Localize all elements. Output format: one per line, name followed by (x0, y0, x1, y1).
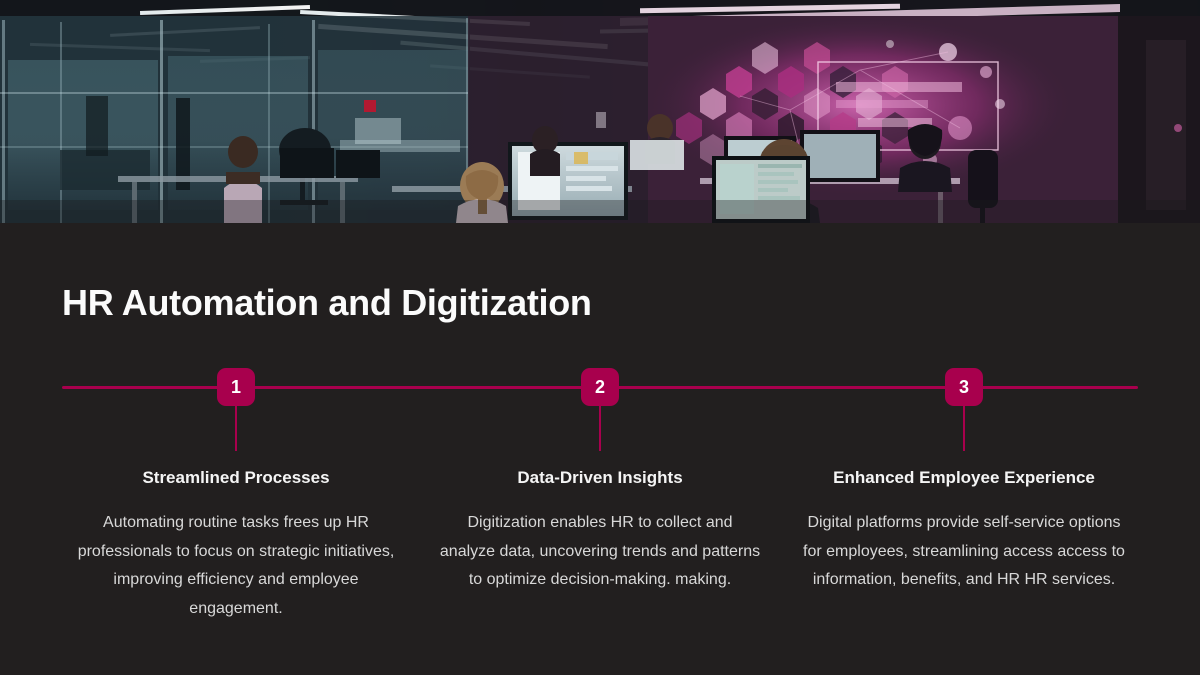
step-number-badge: 1 (217, 368, 255, 406)
slide-body: HR Automation and Digitization 1 2 3 Str… (0, 223, 1200, 675)
step-body: Automating routine tasks frees up HR pro… (66, 509, 406, 623)
step-number-badge: 2 (581, 368, 619, 406)
timeline-marker-2[interactable]: 2 (581, 368, 619, 406)
step-title: Enhanced Employee Experience (794, 468, 1134, 488)
hero-illustration (0, 0, 1200, 223)
marker-stem (599, 406, 601, 451)
marker-stem (963, 406, 965, 451)
step-title: Streamlined Processes (66, 468, 406, 488)
step-column-1: Streamlined Processes Automating routine… (66, 468, 406, 623)
step-body: Digitization enables HR to collect and a… (430, 509, 770, 594)
hero-image (0, 0, 1200, 223)
timeline-marker-1[interactable]: 1 (217, 368, 255, 406)
page-title: HR Automation and Digitization (62, 285, 592, 321)
step-column-2: Data-Driven Insights Digitization enable… (430, 468, 770, 595)
step-body: Digital platforms provide self-service o… (794, 509, 1134, 594)
step-number-badge: 3 (945, 368, 983, 406)
marker-stem (235, 406, 237, 451)
step-column-3: Enhanced Employee Experience Digital pla… (794, 468, 1134, 595)
step-title: Data-Driven Insights (430, 468, 770, 488)
timeline-marker-3[interactable]: 3 (945, 368, 983, 406)
